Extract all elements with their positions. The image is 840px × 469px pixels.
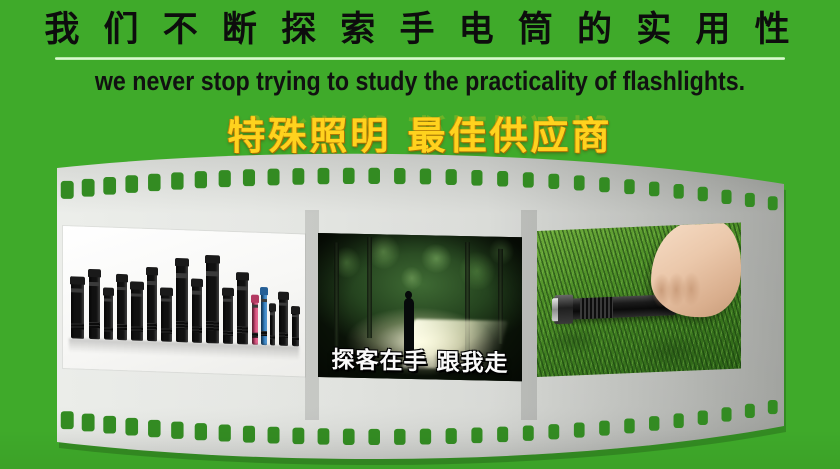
photo-caption: 探客在手 跟我走 xyxy=(318,347,522,377)
page-title: 我 们 不 断 探 索 手 电 筒 的 实 用 性 xyxy=(0,8,840,52)
pink-flashlight xyxy=(252,299,258,345)
list-item[interactable]: 探客在手 跟我走 xyxy=(318,233,522,381)
flashlight-lineup xyxy=(69,252,299,346)
page-subtitle: we never stop trying to study the practi… xyxy=(59,64,781,98)
list-item[interactable] xyxy=(537,222,741,377)
blue-flashlight xyxy=(261,291,267,345)
flashlight-bezel xyxy=(552,298,559,322)
promo-banner: 我 们 不 断 探 索 手 电 筒 的 实 用 性 we never stop … xyxy=(0,0,840,469)
list-item[interactable] xyxy=(63,226,305,376)
title-divider xyxy=(55,57,785,60)
slogan-reflection: 特殊照明 最佳供应商 xyxy=(0,108,840,156)
knuckles xyxy=(653,271,706,308)
